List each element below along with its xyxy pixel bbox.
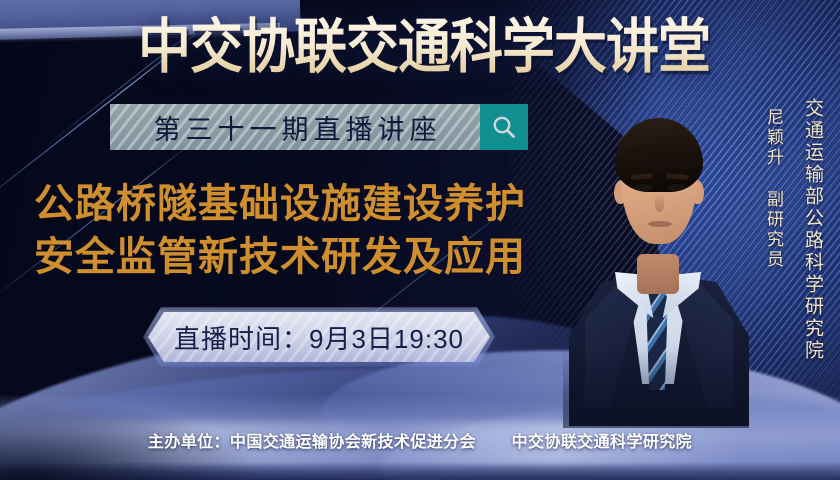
speaker-name-title: 尼颖升 副研究员 xyxy=(761,108,786,352)
portrait-shadow xyxy=(563,348,749,428)
footer-organizers: 主办单位：中国交通运输协会新技术促进分会 中交协联交通科学研究院 xyxy=(0,428,840,452)
headline-line-1: 公路桥隧基础设施建设养护 xyxy=(34,178,579,231)
broadcast-time-banner: 直播时间：9月3日19:30 xyxy=(148,312,490,362)
live-lecture-poster: 中交协联交通科学大讲堂 第三十一期直播讲座 公路桥隧基础设施建设养护 安全监管新… xyxy=(0,0,840,480)
broadcast-time-label: 直播时间：9月3日19:30 xyxy=(174,319,464,356)
portrait-mouth xyxy=(648,221,672,227)
portrait-eye-right xyxy=(667,184,685,191)
lecture-headline: 公路桥隧基础设施建设养护 安全监管新技术研发及应用 xyxy=(34,178,579,284)
episode-banner-body: 第三十一期直播讲座 xyxy=(110,104,480,150)
footer-co-organizer: 中交协联交通科学研究院 xyxy=(512,434,692,451)
speaker-organization: 交通运输部公路科学研究院 xyxy=(799,98,826,362)
episode-banner: 第三十一期直播讲座 xyxy=(110,104,528,150)
headline-line-2: 安全监管新技术研发及应用 xyxy=(34,231,579,284)
search-icon[interactable] xyxy=(480,104,528,150)
speaker-portrait xyxy=(563,88,749,426)
portrait-nose xyxy=(655,192,664,212)
portrait-neck xyxy=(637,254,679,294)
episode-label: 第三十一期直播讲座 xyxy=(149,108,442,147)
portrait-eye-left xyxy=(634,184,652,191)
page-title: 中交协联交通科学大讲堂 xyxy=(124,12,724,81)
footer-organizer-label: 主办单位：中国交通运输协会新技术促进分会 xyxy=(148,434,476,451)
